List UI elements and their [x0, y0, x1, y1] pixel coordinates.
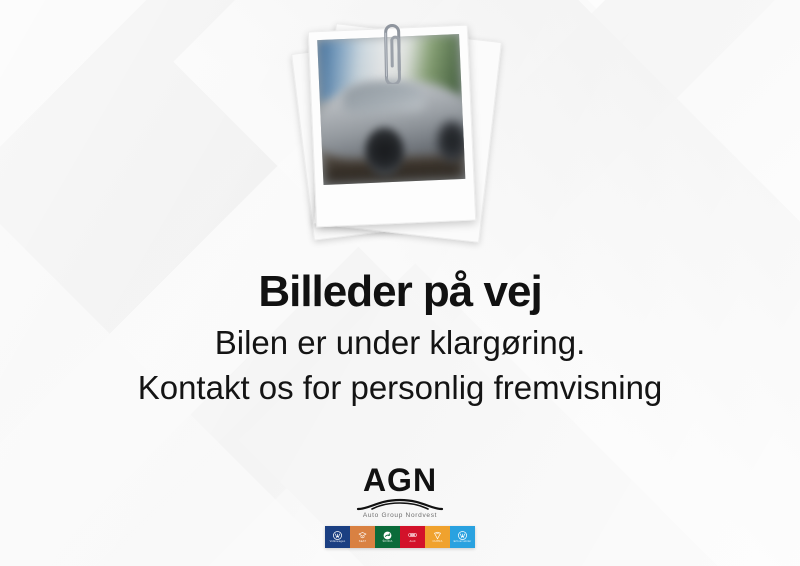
brand-label: SEAT: [359, 541, 366, 544]
brand-segment-skoda[interactable]: ŠKODA: [375, 526, 400, 548]
brand-segment-vw-commercial[interactable]: Erhvervsbiler: [450, 526, 475, 548]
agn-tagline: Auto Group Nordvest: [363, 512, 437, 519]
cupra-logo-icon: [433, 531, 442, 540]
vw-logo-icon: [333, 531, 342, 540]
brand-strip: Volkswagen SEAT: [325, 526, 475, 548]
brand-segment-audi[interactable]: Audi: [400, 526, 425, 548]
brand-segment-volkswagen[interactable]: Volkswagen: [325, 526, 350, 548]
brand-segment-seat[interactable]: SEAT: [350, 526, 375, 548]
brand-label: ŠKODA: [382, 541, 392, 544]
car-swoosh-icon: [356, 497, 444, 511]
brand-label: Audi: [410, 541, 416, 544]
brand-label: Erhvervsbiler: [454, 541, 472, 544]
brand-segment-cupra[interactable]: CUPRA: [425, 526, 450, 548]
skoda-logo-icon: [383, 531, 392, 540]
message-block: Billeder på vej Bilen er under klargørin…: [0, 268, 800, 409]
image-placeholder-card: Billeder på vej Bilen er under klargørin…: [0, 0, 800, 566]
brand-label: CUPRA: [432, 541, 442, 544]
paperclip-icon: [373, 18, 408, 85]
brand-footer: AGN Auto Group Nordvest Volkswagen: [0, 464, 800, 548]
brand-label: Volkswagen: [330, 541, 346, 544]
vw-commercial-logo-icon: [458, 531, 467, 540]
page-title: Billeder på vej: [0, 268, 800, 316]
polaroid-caption-area: [324, 179, 468, 223]
polaroid-photo-stack: [286, 14, 516, 264]
agn-wordmark: AGN: [363, 464, 437, 496]
message-line-1: Bilen er under klargøring.: [0, 322, 800, 364]
audi-logo-icon: [408, 531, 417, 540]
seat-logo-icon: [358, 531, 367, 540]
message-line-2: Kontakt os for personlig fremvisning: [0, 367, 800, 409]
